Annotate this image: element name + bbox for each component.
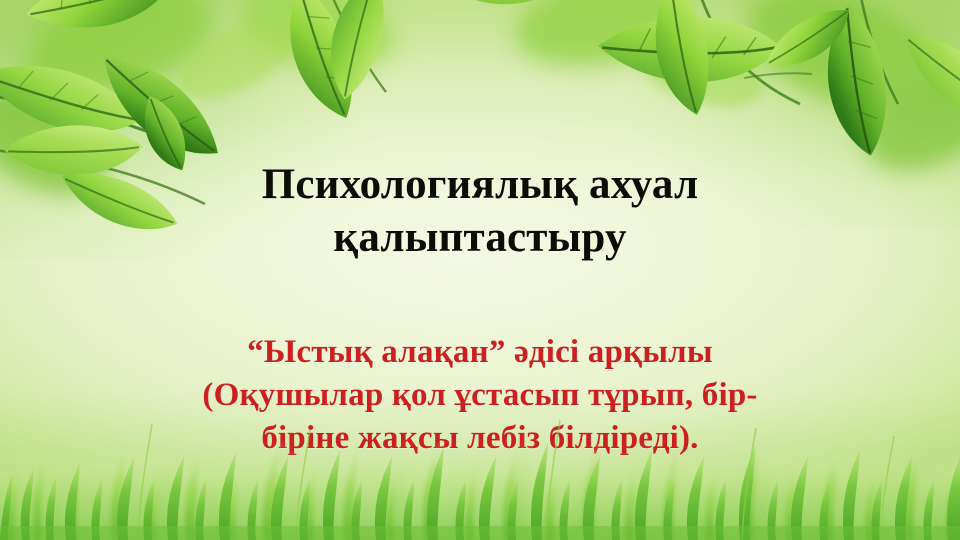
body-line-3: біріне жақсы лебіз білдіреді). <box>0 417 960 460</box>
body-line-2: (Оқушылар қол ұстасып тұрып, бір- <box>0 374 960 417</box>
slide-body-text: “Ыстық алақан” әдісі арқылы (Оқушылар қо… <box>0 331 960 460</box>
presentation-slide: Психологиялық ахуал қалыптастыру “Ыстық … <box>0 0 960 540</box>
title-line-1: Психологиялық ахуал <box>262 161 699 208</box>
page-title: Психологиялық ахуал қалыптастыру <box>0 158 960 264</box>
slide-content: Психологиялық ахуал қалыптастыру “Ыстық … <box>0 0 960 540</box>
title-line-2: қалыптастыру <box>0 211 960 264</box>
body-line-1: “Ыстық алақан” әдісі арқылы <box>0 331 960 374</box>
